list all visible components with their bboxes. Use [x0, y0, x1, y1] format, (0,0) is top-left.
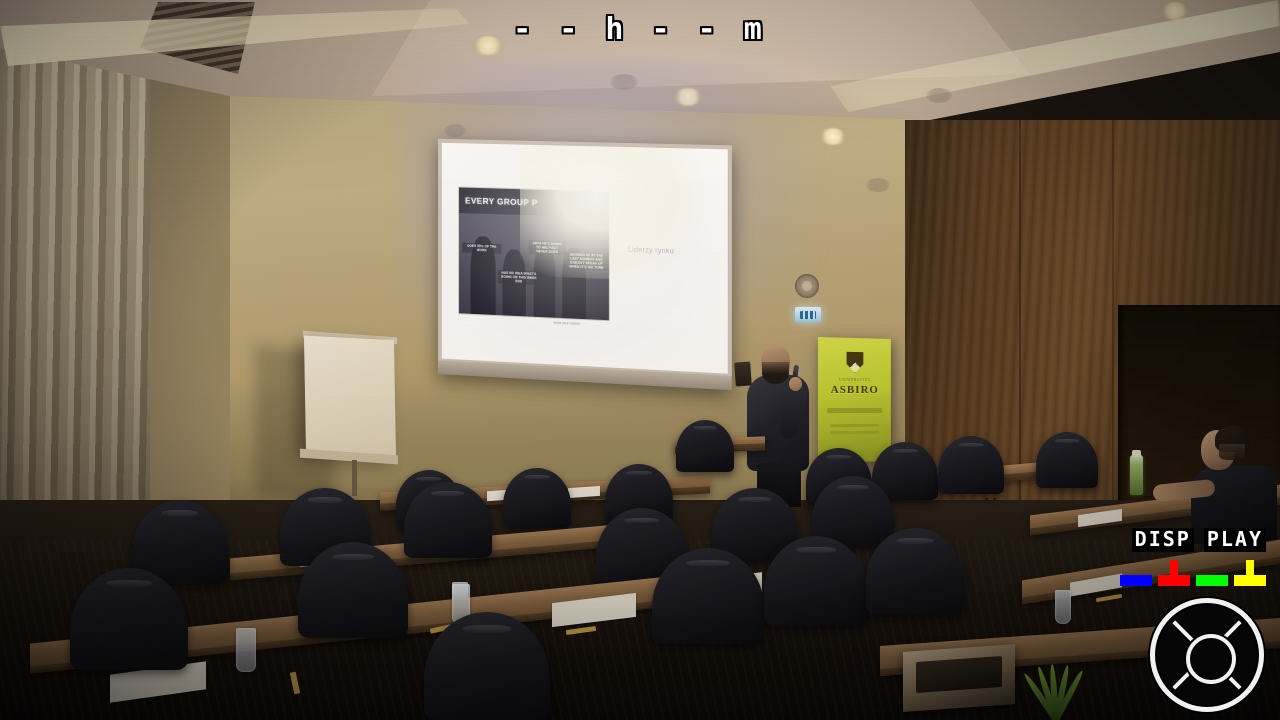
disp-label: DISP	[1132, 528, 1194, 552]
meme-caption: HAS NO IDEA WHAT'S GOING ON THIS WEEK EN…	[498, 269, 541, 285]
exit-pictogram-icon	[800, 311, 816, 319]
slide-body-text: Liderzy rynku	[628, 247, 674, 256]
emergency-exit-sign	[795, 307, 821, 322]
projection-screen: EVERY GROUP P DOES 99% OF THE WORK HAS N…	[438, 139, 732, 390]
attendee-hair-fade	[1219, 444, 1245, 460]
presenter-beard	[762, 362, 789, 384]
meme-caption: SAYS HE'S GOING TO HELP BUT NEVER DOES	[529, 240, 566, 255]
banner-text-block	[827, 408, 882, 413]
camcorder-viewfinder: EVERY GROUP P DOES 99% OF THE WORK HAS N…	[0, 0, 1280, 720]
attendee-person	[1175, 424, 1280, 544]
shield-crest-quarter-icon	[847, 352, 864, 373]
slide-meme-image: EVERY GROUP P DOES 99% OF THE WORK HAS N…	[458, 186, 609, 320]
color-bar-indicators[interactable]	[1120, 560, 1266, 586]
timecode-display: - - h - - m	[0, 12, 1280, 47]
meme-caption: DOES 99% OF THE WORK	[462, 243, 501, 254]
potted-plant	[1018, 655, 1088, 720]
blue-bar-indicator[interactable]	[1120, 560, 1152, 586]
wall-clock	[795, 274, 819, 298]
clock-face	[802, 281, 812, 291]
display-mode-label: DISP PLAY	[1132, 528, 1266, 552]
flipchart-easel[interactable]	[304, 336, 396, 459]
ceiling-spotlight	[819, 128, 847, 145]
slide-header-bar: EVERY GROUP P	[459, 187, 608, 217]
banner-text-line	[830, 424, 880, 428]
ceiling-fixture	[866, 178, 890, 192]
banner-text-line	[830, 431, 880, 435]
green-bar-indicator[interactable]	[1196, 560, 1228, 586]
equipment-case[interactable]	[903, 644, 1015, 712]
yellow-bar-indicator[interactable]	[1234, 560, 1266, 586]
play-label: PLAY	[1204, 528, 1266, 552]
slide-header-text: EVERY GROUP P	[459, 195, 538, 207]
wood-panel-seam	[1112, 120, 1114, 540]
presenter-hand	[789, 377, 802, 391]
bottle-cap	[1132, 450, 1141, 457]
presentation-slide: EVERY GROUP P DOES 99% OF THE WORK HAS N…	[442, 143, 728, 374]
equipment-case-lid	[916, 656, 1001, 693]
slide-image-caption: know your market	[554, 321, 580, 326]
dial-center-button[interactable]	[1186, 634, 1236, 684]
water-glass	[1055, 590, 1071, 624]
ceiling-fixture	[926, 88, 952, 103]
red-bar-indicator[interactable]	[1158, 560, 1190, 586]
water-glass	[236, 628, 256, 672]
projection-screen-surface: EVERY GROUP P DOES 99% OF THE WORK HAS N…	[442, 143, 728, 374]
meme-caption: SHOWED UP AT THE LAST MOMENT AND DOESN'T…	[563, 252, 609, 272]
navigation-dial-icon[interactable]	[1150, 598, 1264, 712]
flipchart-leg	[352, 460, 357, 496]
green-bottle	[1130, 455, 1143, 495]
